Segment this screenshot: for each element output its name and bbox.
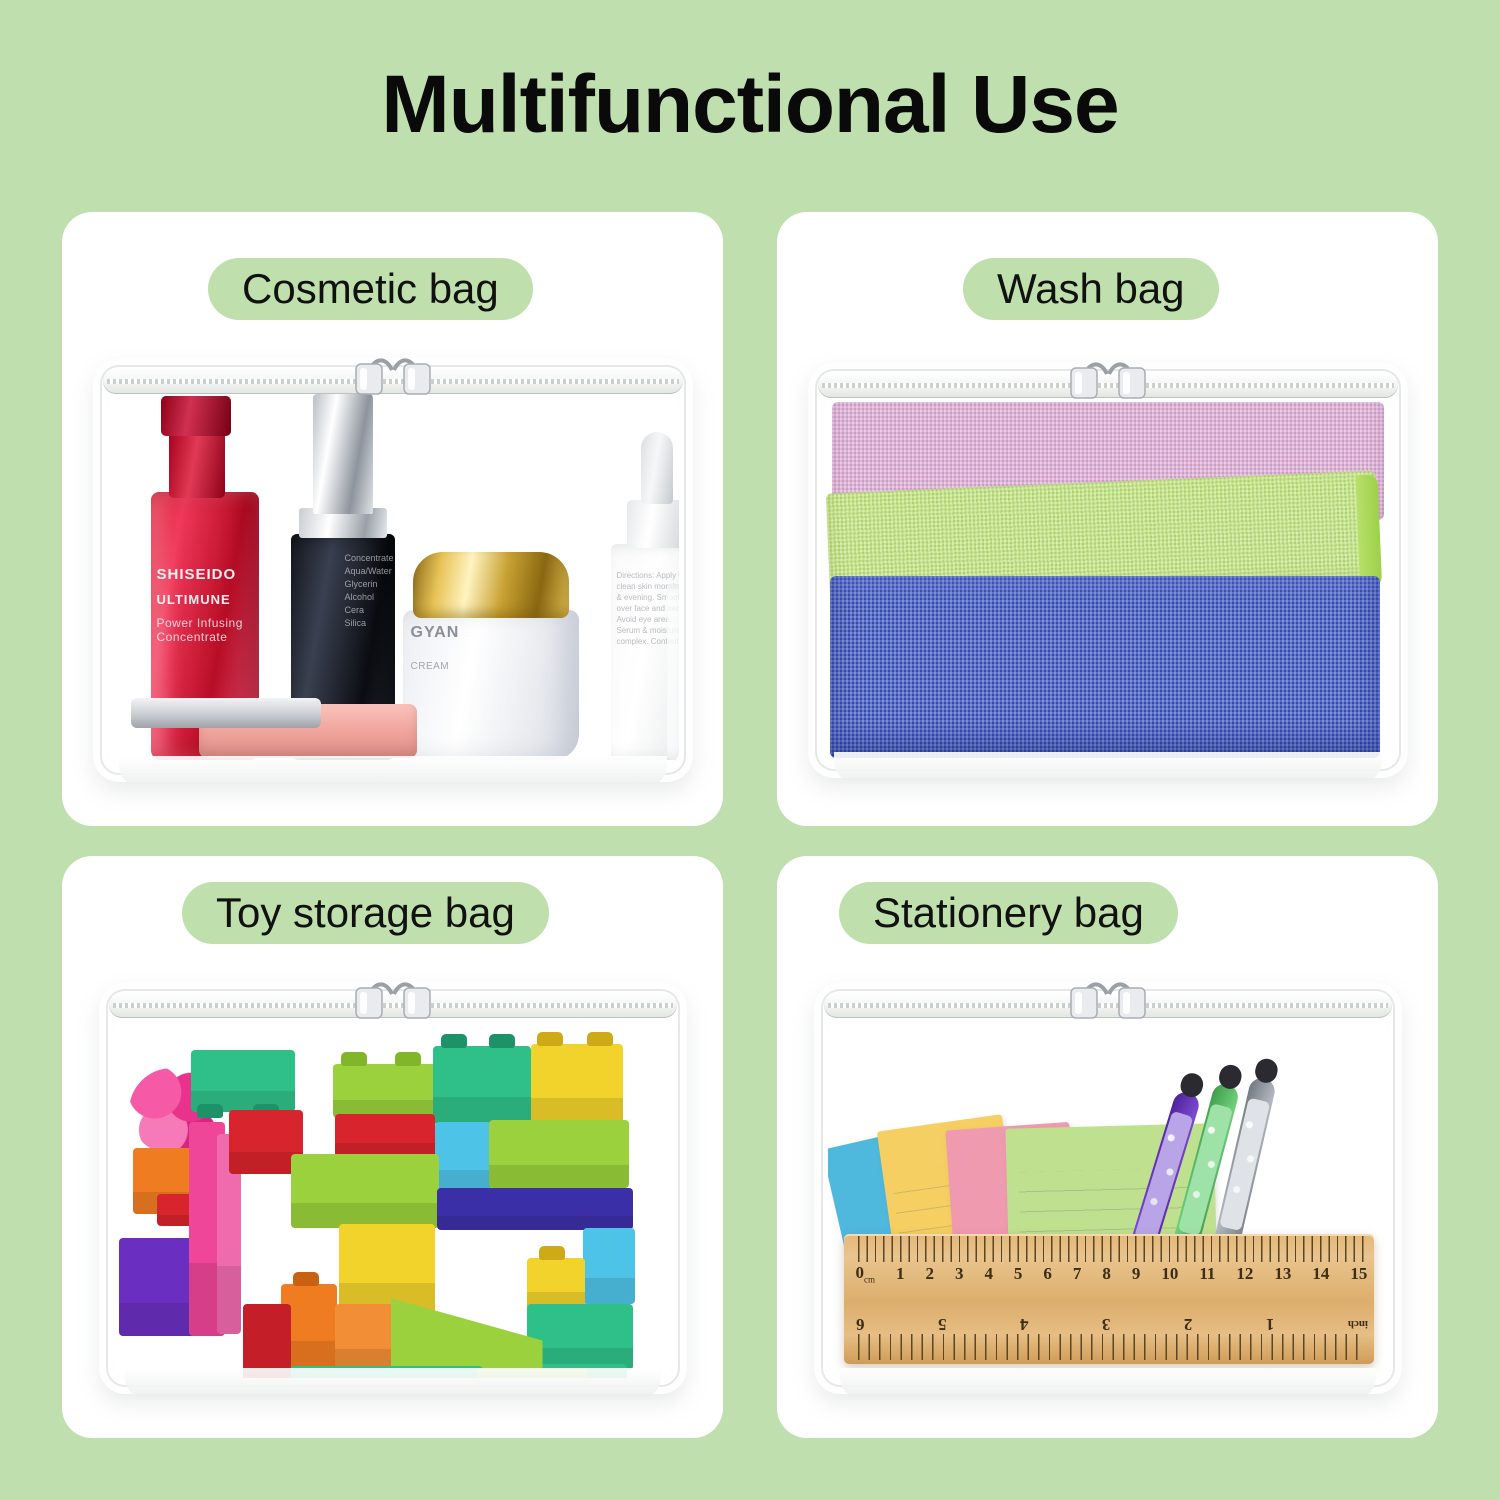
ruler-inch-tick: 3 <box>1101 1314 1110 1334</box>
block-cyan-mid <box>435 1122 491 1194</box>
zipper-pulls-toy[interactable] <box>328 968 458 1020</box>
product-line-ultimune: ULTIMUNE <box>157 592 253 607</box>
feature-card-cosmetic[interactable]: Cosmetic bag SHISEIDO ULTIMUNE Power Inf… <box>62 212 723 826</box>
card-label-toy: Toy storage bag <box>182 882 549 944</box>
block-stud <box>587 1032 613 1046</box>
block-yellow-small <box>527 1258 585 1310</box>
pen-tip <box>1177 1070 1205 1099</box>
block-stud <box>293 1272 319 1286</box>
ruler-inch-ticks <box>858 1334 1366 1360</box>
bag-base <box>119 756 667 782</box>
ruler-inch-tick: 5 <box>937 1314 946 1334</box>
ruler-inch-tick: 1 <box>1265 1314 1274 1334</box>
ruler-cm-tick: 15 <box>1350 1264 1367 1284</box>
pen-tip <box>1216 1062 1243 1091</box>
bottle-neck <box>169 428 225 498</box>
ruler-cm-tick: 7 <box>1073 1264 1082 1284</box>
ruler-cm-tick: 11 <box>1199 1264 1215 1284</box>
stationery-contents: 0cm 1 2 3 4 5 6 7 8 9 10 <box>828 1016 1388 1378</box>
block-red-bottom <box>243 1304 291 1378</box>
towel-stack <box>822 396 1394 762</box>
block-stud <box>341 1052 367 1066</box>
block-teal-big <box>433 1046 531 1124</box>
feature-card-wash[interactable]: Wash bag <box>777 212 1438 826</box>
block-orange-bottom2 <box>335 1304 393 1372</box>
zipper-pulls-wash[interactable] <box>1043 348 1173 400</box>
clear-bag-toy <box>99 982 687 1394</box>
block-yellow-mid <box>339 1224 435 1314</box>
ruler-cm-tick: 9 <box>1132 1264 1141 1284</box>
page-title: Multifunctional Use <box>0 58 1500 152</box>
bag-interior-wash <box>822 396 1394 762</box>
ruler-cm-tick: 2 <box>925 1264 934 1284</box>
clear-bag-stationery: 0cm 1 2 3 4 5 6 7 8 9 10 <box>814 982 1402 1394</box>
block-lime-wide <box>489 1120 629 1188</box>
ruler-inch-tick: 2 <box>1183 1314 1192 1334</box>
dropper-collar-white <box>627 500 679 548</box>
ruler-inch-tick: 4 <box>1019 1314 1028 1334</box>
block-red-bar <box>335 1114 435 1158</box>
bottle-cap <box>161 396 231 436</box>
ruler-cm-ticks <box>858 1236 1366 1262</box>
block-stud <box>395 1052 421 1066</box>
towel-blue <box>830 576 1380 758</box>
product-cream-jar: GYAN CREAM <box>403 610 579 760</box>
block-teal-plate <box>191 1050 295 1112</box>
ruler-cm-0: 0cm <box>856 1263 876 1284</box>
product-metal-tube <box>131 698 321 728</box>
bag-base <box>834 752 1382 778</box>
brand-label-gyan: GYAN <box>411 624 460 642</box>
block-stud <box>441 1034 467 1048</box>
block-stud <box>539 1246 565 1260</box>
clear-bag-cosmetic: SHISEIDO ULTIMUNE Power Infusing Concent… <box>93 358 693 782</box>
building-blocks <box>113 1016 673 1378</box>
infographic-page: Multifunctional Use Cosmetic bag SHISEID… <box>0 0 1500 1500</box>
ruler-cm-numbers: 0cm 1 2 3 4 5 6 7 8 9 10 <box>856 1262 1368 1286</box>
product-sub-label: Power Infusing Concentrate <box>157 616 253 644</box>
block-stud <box>197 1104 223 1118</box>
block-lime-slab <box>291 1154 439 1228</box>
block-lime-wedge <box>391 1298 543 1374</box>
product-clear-spray-bottle <box>667 584 679 760</box>
ruler-inch-tick: 6 <box>856 1314 865 1334</box>
block-stud <box>537 1032 563 1046</box>
wooden-ruler: 0cm 1 2 3 4 5 6 7 8 9 10 <box>844 1234 1374 1364</box>
ruler-cm-tick: 10 <box>1161 1264 1178 1284</box>
clear-bag-wash <box>808 362 1408 778</box>
block-lime-studded <box>333 1064 437 1118</box>
feature-card-stationery[interactable]: Stationery bag <box>777 856 1438 1438</box>
ruler-cm-tick: 5 <box>1014 1264 1023 1284</box>
ingredient-text: ConcentrateAqua/WaterGlycerinAlcoholCera… <box>345 552 391 630</box>
block-purple-bar <box>437 1188 633 1230</box>
bag-base <box>125 1368 661 1394</box>
card-label-cosmetic: Cosmetic bag <box>208 258 533 320</box>
bag-interior-toy <box>113 1016 673 1378</box>
ruler-cm-tick: 12 <box>1236 1264 1253 1284</box>
ruler-cm-tick: 13 <box>1274 1264 1291 1284</box>
ruler-unit-inch: inch <box>1347 1318 1367 1330</box>
dropper-cap-silver <box>313 394 373 514</box>
jar-sub-label: CREAM <box>411 660 450 674</box>
ruler-inch-numbers: inch 1 2 3 4 5 6 <box>856 1312 1368 1336</box>
zipper-pulls-stationery[interactable] <box>1043 968 1173 1020</box>
ruler-unit-cm: cm <box>864 1275 875 1285</box>
brand-label-shiseido: SHISEIDO <box>157 566 253 583</box>
feature-card-toy[interactable]: Toy storage bag <box>62 856 723 1438</box>
card-label-wash: Wash bag <box>963 258 1219 320</box>
cosmetic-contents: SHISEIDO ULTIMUNE Power Infusing Concent… <box>107 392 679 766</box>
zipper-pulls-cosmetic[interactable] <box>328 344 458 396</box>
block-cyan-right <box>583 1228 635 1304</box>
ruler-cm-tick: 14 <box>1312 1264 1329 1284</box>
ruler-cm-tick: 3 <box>955 1264 964 1284</box>
ruler-cm-tick: 4 <box>984 1264 993 1284</box>
block-yellow-top <box>531 1044 623 1126</box>
ruler-cm-tick: 6 <box>1043 1264 1052 1284</box>
pen-tip <box>1252 1057 1279 1085</box>
dropper-bulb <box>641 432 673 504</box>
feature-card-grid: Cosmetic bag SHISEIDO ULTIMUNE Power Inf… <box>62 212 1438 1438</box>
bag-interior-stationery: 0cm 1 2 3 4 5 6 7 8 9 10 <box>828 1016 1388 1378</box>
ruler-cm-tick: 1 <box>896 1264 905 1284</box>
block-purple-left <box>119 1238 199 1336</box>
bag-interior-cosmetic: SHISEIDO ULTIMUNE Power Infusing Concent… <box>107 392 679 766</box>
ruler-cm-tick: 8 <box>1102 1264 1111 1284</box>
jar-lid-gold <box>413 552 569 618</box>
block-stud <box>489 1034 515 1048</box>
bag-base <box>840 1368 1376 1394</box>
card-label-stationery: Stationery bag <box>839 882 1178 944</box>
